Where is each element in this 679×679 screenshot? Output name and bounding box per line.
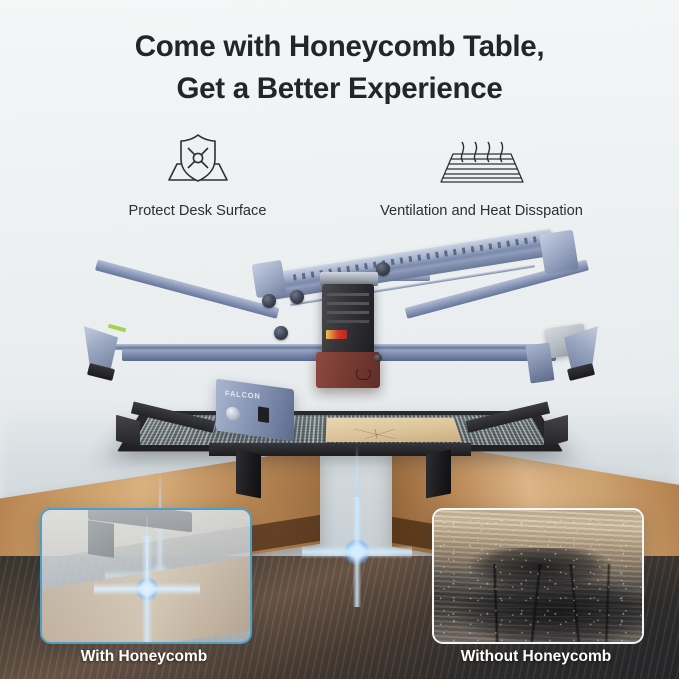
comparison-section: With Honeycomb Without Honeycomb bbox=[0, 0, 679, 679]
card-laser-flare bbox=[90, 532, 204, 644]
comparison-card-without-honeycomb bbox=[432, 508, 644, 644]
product-poster: Come with Honeycomb Table, Get a Better … bbox=[0, 0, 679, 679]
card-ash-speckle bbox=[434, 510, 642, 642]
caption-with-honeycomb: With Honeycomb bbox=[34, 648, 254, 666]
comparison-card-with-honeycomb bbox=[40, 508, 252, 644]
caption-without-honeycomb: Without Honeycomb bbox=[426, 648, 646, 666]
